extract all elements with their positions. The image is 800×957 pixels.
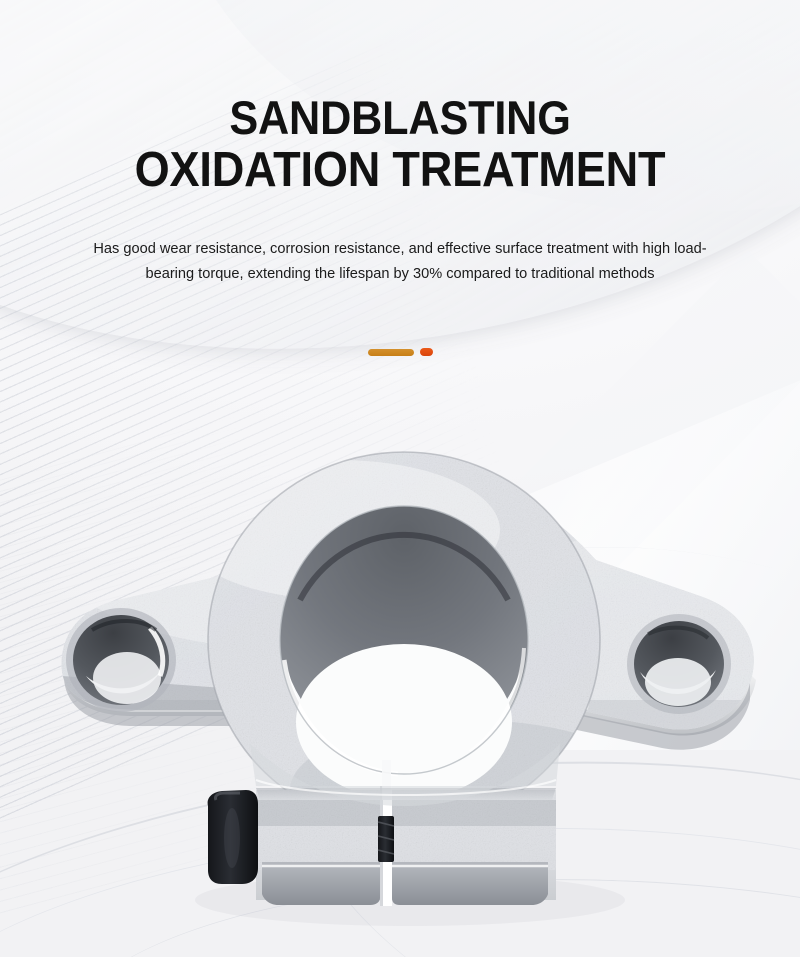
- page-title: SANDBLASTING OXIDATION TREATMENT: [32, 92, 768, 196]
- ornament-bar: [368, 349, 414, 356]
- headline-line-2: OXIDATION TREATMENT: [32, 144, 768, 196]
- headline-line-1: SANDBLASTING: [229, 91, 570, 144]
- base-chamfer-right: [392, 862, 548, 905]
- slot-clamp-nut: [378, 816, 394, 862]
- black-set-screw: [208, 790, 258, 884]
- subtitle-text: Has good wear resistance, corrosion resi…: [83, 236, 717, 286]
- right-mounting-hole: [627, 614, 731, 714]
- left-mounting-hole: [66, 608, 176, 712]
- headline-block: SANDBLASTING OXIDATION TREATMENT: [0, 92, 800, 196]
- right-hole-bottom-light: [645, 658, 711, 706]
- base-chamfer-left: [262, 862, 380, 905]
- left-hole-bottom-light: [93, 652, 161, 704]
- divider-ornament: [0, 348, 800, 356]
- set-screw-sheen: [224, 808, 240, 868]
- product-banner: SANDBLASTING OXIDATION TREATMENT Has goo…: [0, 0, 800, 957]
- bore-inner-light: [296, 644, 512, 800]
- ornament-dot: [420, 348, 433, 356]
